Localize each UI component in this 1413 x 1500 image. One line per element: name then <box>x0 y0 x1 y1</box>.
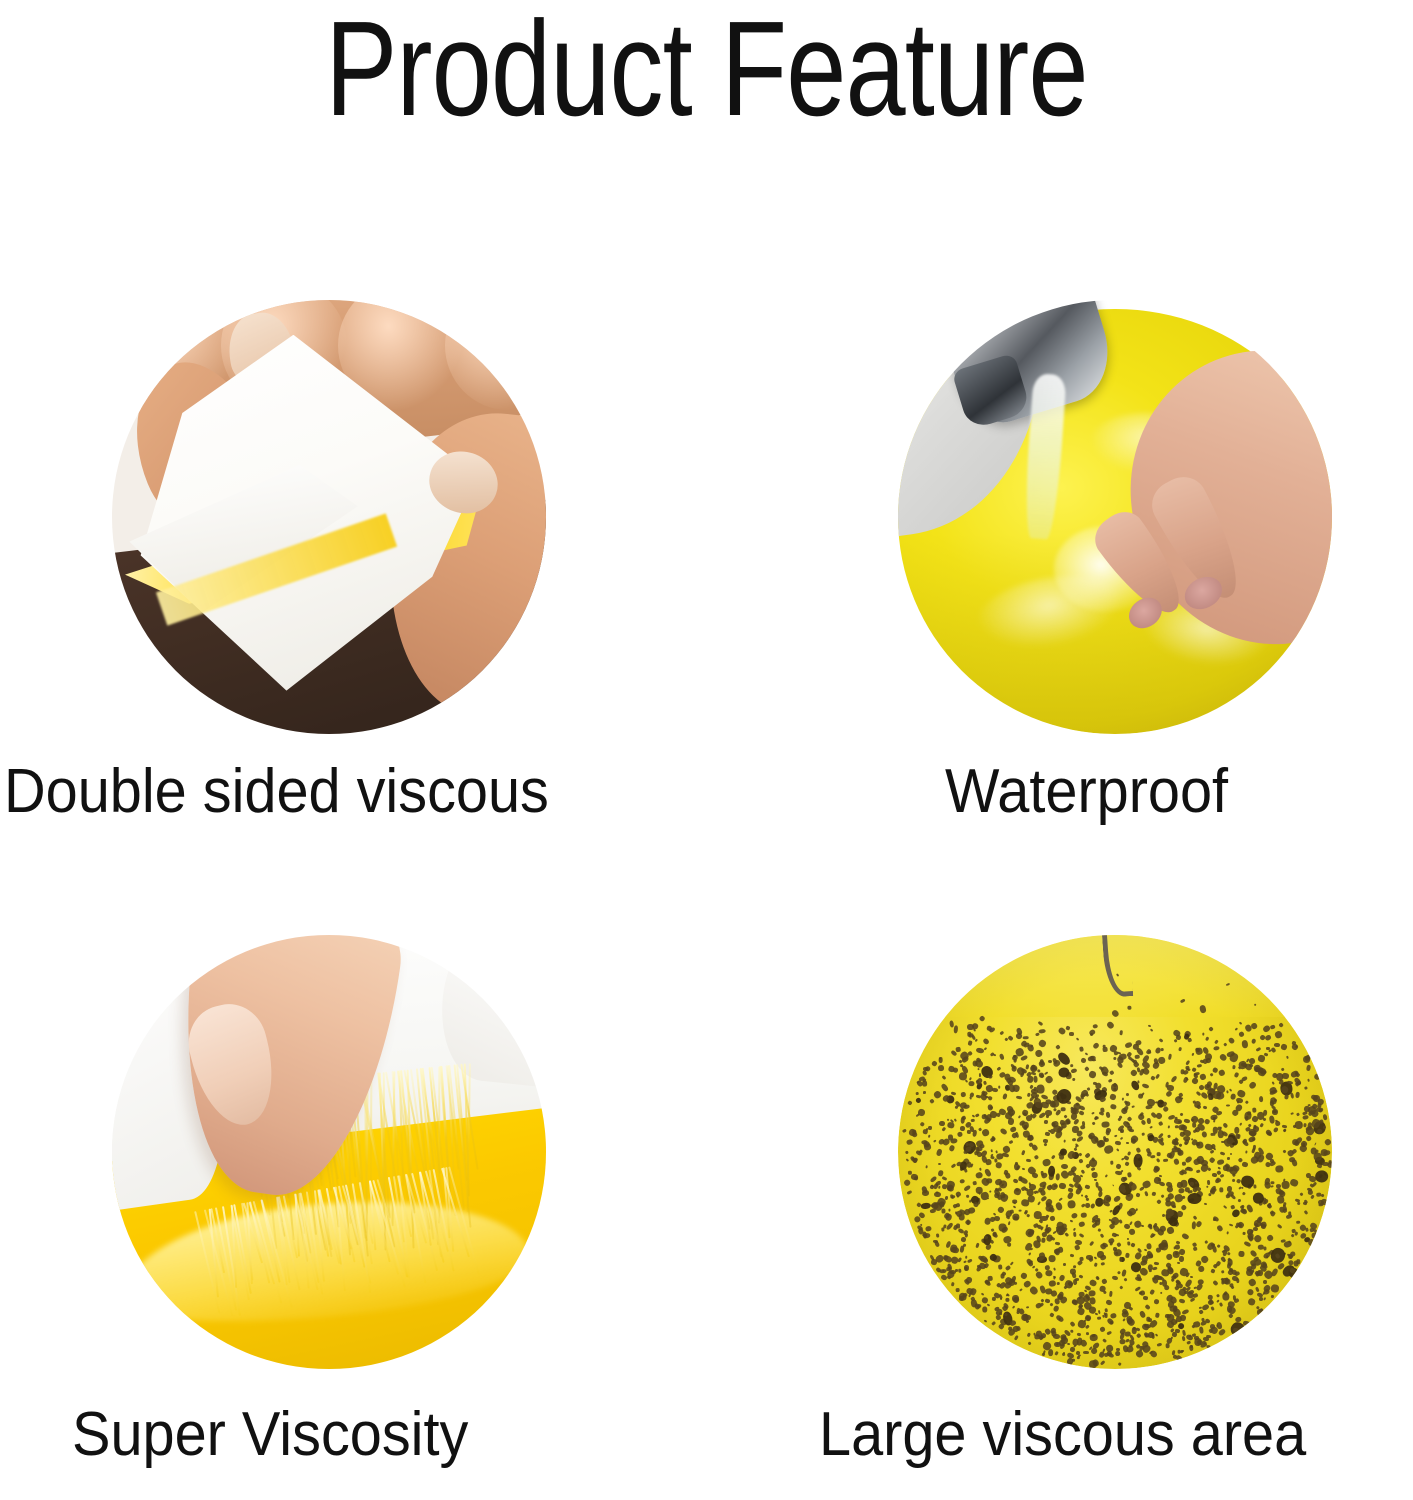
feature-item-double-sided-viscous: Double sided viscous <box>0 300 690 828</box>
feature-image-large-viscous-area <box>898 935 1332 1369</box>
feature-caption-double-sided-viscous: Double sided viscous <box>4 756 642 828</box>
feature-image-waterproof <box>898 300 1332 734</box>
knuckle-highlight <box>445 300 546 410</box>
feature-caption-waterproof: Waterproof <box>945 756 1380 828</box>
feature-image-super-viscosity <box>112 935 546 1369</box>
feature-caption-large-viscous-area: Large viscous area <box>819 1399 1371 1471</box>
feature-grid: Double sided viscous Waterproof <box>0 0 1413 1500</box>
feature-image-double-sided-viscous <box>112 300 546 734</box>
feature-item-waterproof: Waterproof <box>723 300 1413 828</box>
feature-item-super-viscosity: Super Viscosity <box>0 935 690 1471</box>
trap-vignette <box>898 935 1332 1369</box>
feature-caption-super-viscosity: Super Viscosity <box>72 1399 647 1471</box>
feature-item-large-viscous-area: Large viscous area <box>723 935 1413 1471</box>
